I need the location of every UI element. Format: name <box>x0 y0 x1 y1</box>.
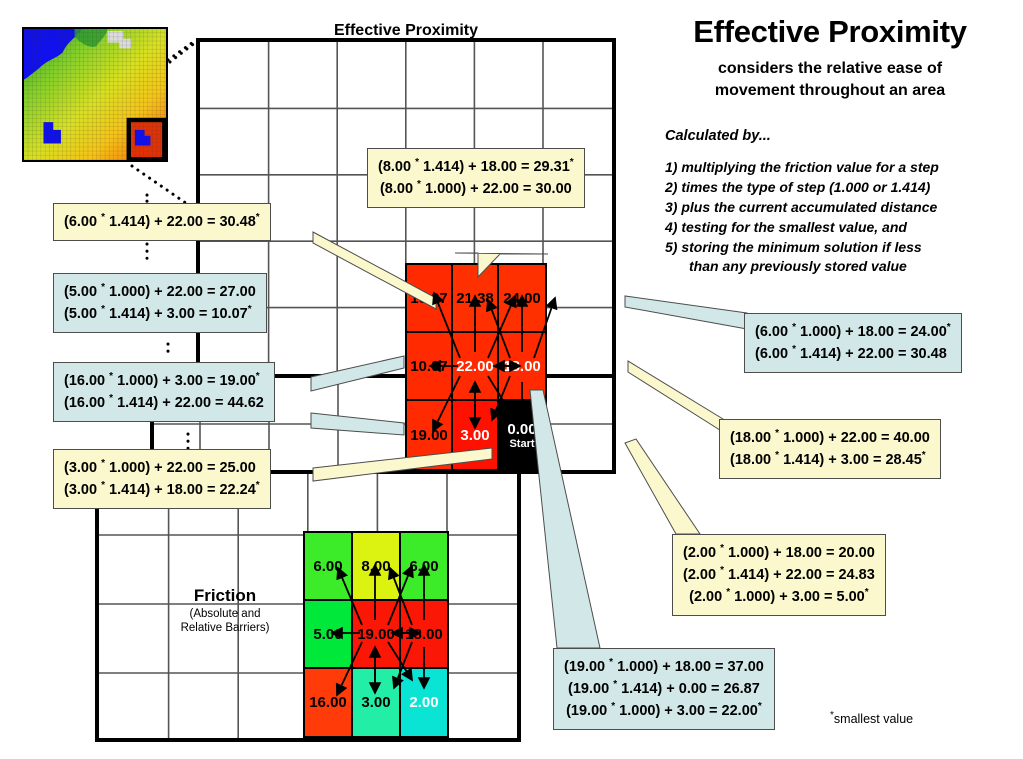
start-label: Start <box>509 438 534 450</box>
fric-cell-value: 2.00 <box>409 694 438 711</box>
subtitle-line-1: considers the relative ease of <box>645 58 1015 80</box>
multiply-symbol: * <box>417 179 421 190</box>
page-subtitle: considers the relative ease of movement … <box>645 58 1015 101</box>
prox-cell-value: 16.07 <box>410 290 448 307</box>
callout-formula-line: (6.00 * 1.414) + 22.00 = 30.48 <box>755 343 951 365</box>
prox-cell-value: 10.07 <box>410 358 448 375</box>
callout-formula-line: (18.00 * 1.414) + 3.00 = 28.45* <box>730 449 930 471</box>
fric-cell-4: 19.00 <box>351 599 401 669</box>
callout-step-3: (3.00 * 1.000) + 22.00 = 25.00(3.00 * 1.… <box>53 449 271 509</box>
prox-cell-6: 19.00 <box>405 399 453 471</box>
callout-formula-line: (6.00 * 1.414) + 22.00 = 30.48* <box>64 211 260 233</box>
fric-cell-value: 6.00 <box>313 558 342 575</box>
friction-value-grid: 6.00 8.00 6.00 5.00 19.00 18.00 16.00 3.… <box>303 531 449 738</box>
smallest-value-marker: * <box>248 304 252 315</box>
proximity-value-grid: 16.07 21.38 24.00 10.07 22.00 18.00 19.0… <box>405 263 547 471</box>
multiply-symbol: * <box>775 450 779 461</box>
smallest-value-marker: * <box>256 371 260 382</box>
callout-formula-line: (19.00 * 1.414) + 0.00 = 26.87 <box>564 678 764 700</box>
fric-cell-value: 6.00 <box>409 558 438 575</box>
callout-formula-line: (16.00 * 1.000) + 3.00 = 19.00* <box>64 370 264 392</box>
smallest-value-marker: * <box>922 450 926 461</box>
multiply-symbol: * <box>726 587 730 598</box>
multiply-symbol: * <box>415 157 419 168</box>
callout-formula-line: (8.00 * 1.000) + 22.00 = 30.00 <box>378 178 574 200</box>
multiply-symbol: * <box>611 701 615 712</box>
fric-cell-5: 18.00 <box>399 599 449 669</box>
callout-formula-line: (19.00 * 1.000) + 18.00 = 37.00 <box>564 656 764 678</box>
multiply-symbol: * <box>720 543 724 554</box>
step-3: 3) plus the current accumulated distance <box>665 198 1017 218</box>
prox-cell-value: 21.38 <box>456 290 494 307</box>
friction-panel-label: Friction (Absolute and Relative Barriers… <box>150 586 300 636</box>
multiply-symbol: * <box>720 565 724 576</box>
friction-subtitle-line-2: Relative Barriers) <box>150 621 300 635</box>
callout-step-6-orthogonal: (6.00 * 1.000) + 18.00 = 24.00*(6.00 * 1… <box>744 313 962 373</box>
callout-formula-line: (2.00 * 1.000) + 3.00 = 5.00* <box>683 586 875 608</box>
fric-cell-6: 16.00 <box>303 667 353 738</box>
overview-map-thumbnail <box>22 27 168 162</box>
prox-cell-1: 21.38 <box>451 263 499 333</box>
prox-cell-7: 3.00 <box>451 399 499 471</box>
multiply-symbol: * <box>613 679 617 690</box>
callout-step-6-diagonal: (6.00 * 1.414) + 22.00 = 30.48* <box>53 203 271 241</box>
callout-step-18: (18.00 * 1.000) + 22.00 = 40.00(18.00 * … <box>719 419 941 479</box>
callout-formula-line: (2.00 * 1.000) + 18.00 = 20.00 <box>683 542 875 564</box>
friction-subtitle: (Absolute and Relative Barriers) <box>150 607 300 636</box>
multiply-symbol: * <box>101 282 105 293</box>
multiply-symbol: * <box>609 657 613 668</box>
callout-formula-line: (2.00 * 1.414) + 22.00 = 24.83 <box>683 564 875 586</box>
callout-formula-line: (5.00 * 1.000) + 22.00 = 27.00 <box>64 281 256 303</box>
multiply-symbol: * <box>792 322 796 333</box>
fric-cell-3: 5.00 <box>303 599 353 669</box>
fric-cell-value: 18.00 <box>405 626 443 643</box>
step-4: 4) testing for the smallest value, and <box>665 218 1017 238</box>
callout-step-8: (8.00 * 1.414) + 18.00 = 29.31*(8.00 * 1… <box>367 148 585 208</box>
callout-formula-line: (18.00 * 1.000) + 22.00 = 40.00 <box>730 427 930 449</box>
footnote: *smallest value <box>830 710 913 726</box>
prox-cell-0: 16.07 <box>405 263 453 333</box>
fric-cell-value: 19.00 <box>357 626 395 643</box>
calculated-by-heading: Calculated by... <box>665 128 771 144</box>
multiply-symbol: * <box>109 371 113 382</box>
step-2: 2) times the type of step (1.000 or 1.41… <box>665 178 1017 198</box>
multiply-symbol: * <box>101 480 105 491</box>
callout-step-2: (2.00 * 1.000) + 18.00 = 20.00(2.00 * 1.… <box>672 534 886 616</box>
smallest-value-marker: * <box>947 322 951 333</box>
prox-cell-3: 10.07 <box>405 331 453 401</box>
friction-subtitle-line-1: (Absolute and <box>150 607 300 621</box>
multiply-symbol: * <box>792 344 796 355</box>
callout-formula-line: (6.00 * 1.000) + 18.00 = 24.00* <box>755 321 951 343</box>
map-title: Effective Proximity <box>196 22 616 40</box>
multiply-symbol: * <box>101 458 105 469</box>
smallest-value-marker: * <box>256 212 260 223</box>
multiply-symbol: * <box>109 393 113 404</box>
fric-cell-value: 3.00 <box>361 694 390 711</box>
prox-cell-value: 3.00 <box>460 427 489 444</box>
diagram-canvas: Effective Proximity 16.07 21.38 24.00 10… <box>0 0 1023 759</box>
smallest-value-marker: * <box>758 701 762 712</box>
subtitle-line-2: movement throughout an area <box>645 80 1015 102</box>
step-5: 5) storing the minimum solution if less <box>665 238 1017 258</box>
callout-formula-line: (3.00 * 1.000) + 22.00 = 25.00 <box>64 457 260 479</box>
prox-cell-4: 22.00 <box>451 331 499 401</box>
prox-cell-value: 18.00 <box>503 358 541 375</box>
step-1: 1) multiplying the friction value for a … <box>665 158 1017 178</box>
prox-cell-value: 0.00 <box>507 421 536 438</box>
smallest-value-marker: * <box>865 587 869 598</box>
callout-formula-line: (3.00 * 1.414) + 18.00 = 22.24* <box>64 479 260 501</box>
fric-cell-8: 2.00 <box>399 667 449 738</box>
smallest-value-marker: * <box>570 157 574 168</box>
multiply-symbol: * <box>775 428 779 439</box>
callout-formula-line: (19.00 * 1.000) + 3.00 = 22.00* <box>564 700 764 722</box>
multiply-symbol: * <box>101 304 105 315</box>
prox-cell-value: 22.00 <box>456 358 494 375</box>
prox-cell-start: 0.00 Start <box>497 399 547 471</box>
prox-cell-2: 24.00 <box>497 263 547 333</box>
prox-cell-5: 18.00 <box>497 331 547 401</box>
fric-cell-0: 6.00 <box>303 531 353 601</box>
page-title: Effective Proximity <box>645 14 1015 50</box>
fric-cell-2: 6.00 <box>399 531 449 601</box>
smallest-value-marker: * <box>256 480 260 491</box>
callout-formula-line: (16.00 * 1.414) + 22.00 = 44.62 <box>64 392 264 414</box>
calculation-steps-list: 1) multiplying the friction value for a … <box>665 158 1017 277</box>
multiply-symbol: * <box>101 212 105 223</box>
callout-step-5: (5.00 * 1.000) + 22.00 = 27.00(5.00 * 1.… <box>53 273 267 333</box>
fric-cell-value: 16.00 <box>309 694 347 711</box>
fric-cell-value: 5.00 <box>313 626 342 643</box>
footnote-text: smallest value <box>834 712 913 726</box>
callout-step-16: (16.00 * 1.000) + 3.00 = 19.00*(16.00 * … <box>53 362 275 422</box>
callout-formula-line: (5.00 * 1.414) + 3.00 = 10.07* <box>64 303 256 325</box>
prox-cell-value: 24.00 <box>503 290 541 307</box>
prox-cell-value: 19.00 <box>410 427 448 444</box>
callout-step-19: (19.00 * 1.000) + 18.00 = 37.00(19.00 * … <box>553 648 775 730</box>
step-5-continued: than any previously stored value <box>665 257 1017 277</box>
fric-cell-7: 3.00 <box>351 667 401 738</box>
fric-cell-1: 8.00 <box>351 531 401 601</box>
fric-cell-value: 8.00 <box>361 558 390 575</box>
callout-formula-line: (8.00 * 1.414) + 18.00 = 29.31* <box>378 156 574 178</box>
friction-title: Friction <box>150 586 300 606</box>
